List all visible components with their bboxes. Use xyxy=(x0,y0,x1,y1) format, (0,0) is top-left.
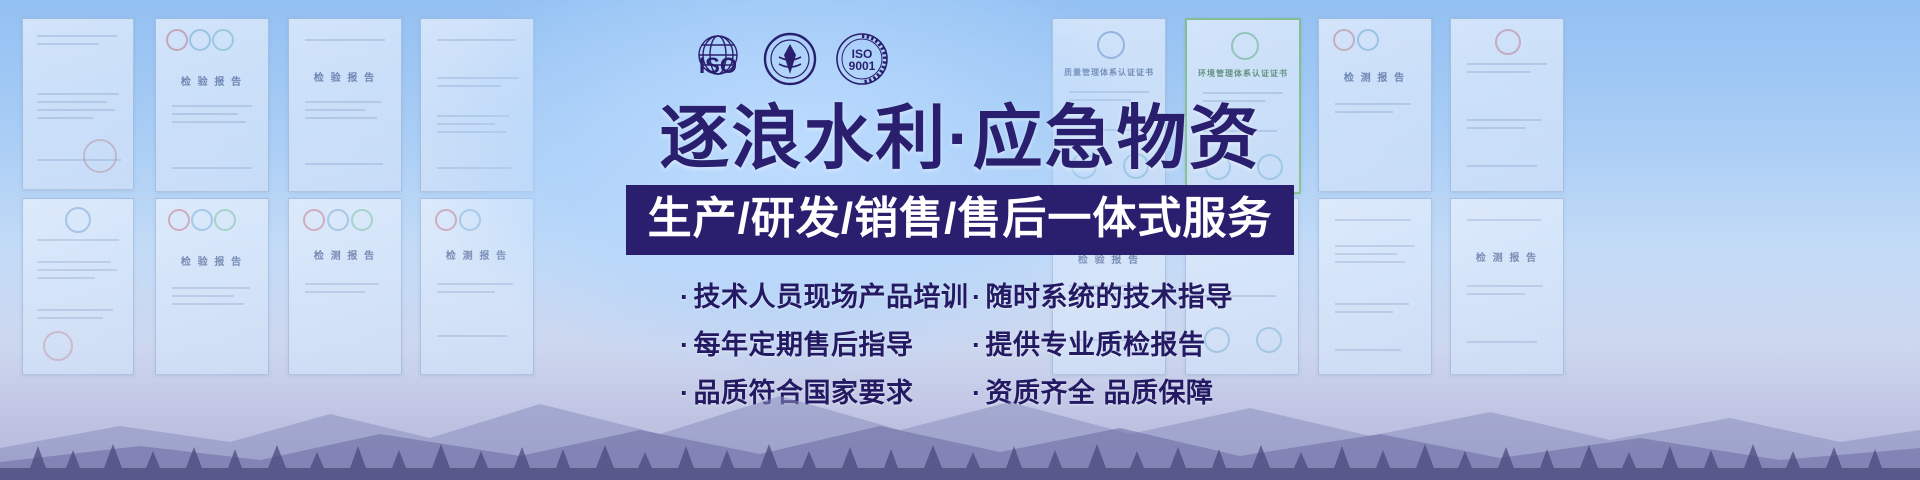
feature-label: 技术人员现场产品培训 xyxy=(694,282,969,312)
certification-badges: ISO ISO 9001 xyxy=(690,28,890,90)
feature-item: ·技术人员现场产品培训 xyxy=(680,280,960,314)
iso9001-icon: ISO 9001 xyxy=(834,31,890,87)
svg-text:9001: 9001 xyxy=(849,59,876,73)
cert-logo-icon xyxy=(1231,32,1259,60)
cert-logo-icon xyxy=(166,29,188,51)
mountain-scenery xyxy=(0,330,1920,480)
cert-logo-icon xyxy=(1333,29,1355,51)
certificate-title: 环境管理体系认证证书 xyxy=(1198,68,1288,79)
certificate-title: 检 验 报 告 xyxy=(314,69,376,84)
bullet-dot-icon: · xyxy=(680,282,690,312)
round-seal-icon xyxy=(762,31,818,87)
feature-label: 随时系统的技术指导 xyxy=(986,282,1234,312)
cert-logo-icon xyxy=(1097,31,1125,59)
certificate-title: 检 验 报 告 xyxy=(181,253,243,268)
service-band: 生产/研发/销售/售后一体式服务 xyxy=(626,185,1295,255)
cert-logo-icon xyxy=(1357,29,1379,51)
cert-logo-icon xyxy=(189,29,211,51)
iso-badge-label: ISO xyxy=(699,53,737,78)
bullet-dot-icon: · xyxy=(972,282,982,312)
certificate-title: 质量管理体系认证证书 xyxy=(1064,67,1154,78)
certificate-title: 检 测 报 告 xyxy=(1344,69,1406,84)
page-title: 逐浪水利·应急物资 xyxy=(0,100,1920,176)
service-band-wrap: 生产/研发/销售/售后一体式服务 xyxy=(0,185,1920,255)
feature-row: ·技术人员现场产品培训 ·随时系统的技术指导 xyxy=(680,280,1240,314)
feature-item: ·随时系统的技术指导 xyxy=(972,280,1240,314)
cert-logo-icon xyxy=(1495,29,1521,55)
promo-banner: 检 验 报 告 检 验 报 告 xyxy=(0,0,1920,480)
iso-globe-icon: ISO xyxy=(690,31,746,87)
cert-logo-icon xyxy=(212,29,234,51)
certificate-title: 检 验 报 告 xyxy=(181,73,243,88)
